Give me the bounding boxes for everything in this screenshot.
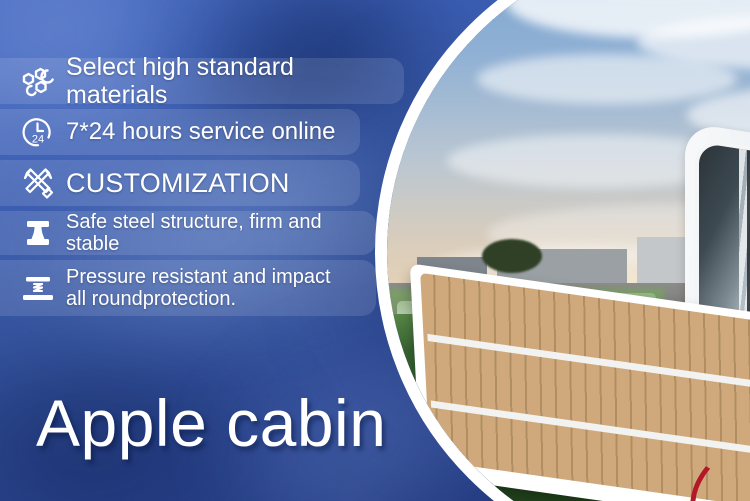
feature-item-customization[interactable]: CUSTOMIZATION: [0, 160, 360, 206]
feature-label: Safe steel structure, firm and stable: [66, 211, 362, 256]
feature-label: 7*24 hours service online: [66, 119, 336, 146]
deck-seam: [427, 334, 750, 396]
feature-item-service[interactable]: 24 7*24 hours service online: [0, 109, 360, 155]
svg-text:24: 24: [32, 134, 44, 146]
feature-item-steel-structure[interactable]: Safe steel structure, firm and stable: [0, 211, 376, 255]
feature-item-pressure-resistant[interactable]: Pressure resistant and impact all roundp…: [0, 260, 376, 316]
hexagon-molecule-icon: [18, 61, 58, 101]
deck-seam: [431, 400, 750, 462]
clock-24-icon: 24: [18, 112, 58, 152]
deck-planks: [420, 273, 750, 501]
i-beam-icon: [18, 213, 58, 253]
feature-item-materials[interactable]: Select high standard materials: [0, 58, 404, 104]
feature-label: Select high standard materials: [66, 53, 390, 109]
feature-label: Pressure resistant and impact all roundp…: [66, 266, 331, 311]
background-tree: [482, 239, 542, 273]
product-photo: [387, 0, 750, 501]
pressure-spring-icon: [18, 268, 58, 308]
page-title: Apple cabin: [36, 385, 386, 461]
promo-banner: Select high standard materials 24 7*24 h…: [0, 0, 750, 501]
feature-list: Select high standard materials 24 7*24 h…: [0, 58, 400, 321]
design-tools-icon: [18, 163, 58, 203]
feature-label: CUSTOMIZATION: [66, 168, 290, 198]
product-photo-frame: [375, 0, 750, 501]
